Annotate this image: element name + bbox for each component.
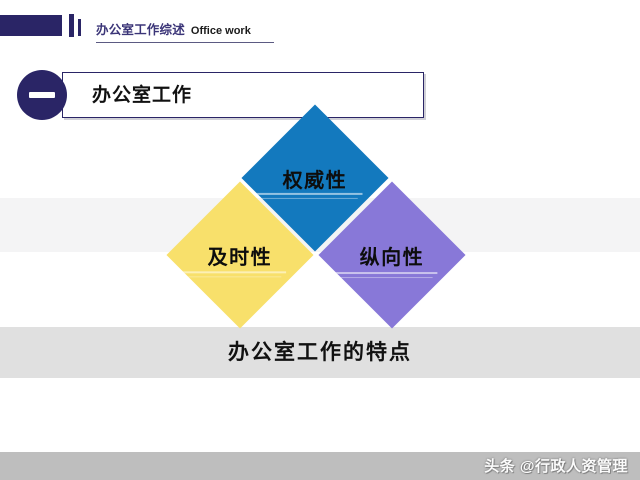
slide-header: 办公室工作综述Office work [0, 0, 640, 52]
section-number-glyph [29, 92, 55, 98]
diamond-label: 权威性 [283, 164, 348, 193]
slide-canvas: 办公室工作综述Office work 办公室工作 权威性 及时性 纵向性 办公室… [0, 0, 640, 480]
diagram-caption: 办公室工作的特点 [0, 336, 640, 366]
header-navy-block [0, 15, 62, 36]
header-accent-bar-thin [78, 19, 81, 36]
header-title: 办公室工作综述Office work [96, 19, 274, 43]
diamond-highlight-streak [166, 271, 285, 273]
header-title-chinese: 办公室工作综述 [96, 23, 185, 37]
watermark-text: 头条 @行政人资管理 [484, 455, 628, 476]
diamond-label: 及时性 [208, 241, 273, 270]
header-accent-bar-thick [69, 14, 74, 37]
diamond-highlight-streak [318, 272, 437, 274]
header-title-english: Office work [191, 25, 251, 37]
diamond-label: 纵向性 [360, 241, 425, 270]
section-number-badge [17, 70, 67, 120]
diamond-highlight-streak-secondary [318, 277, 432, 278]
section-title-text: 办公室工作 [92, 80, 192, 107]
diamond-highlight-streak-secondary [166, 276, 280, 277]
